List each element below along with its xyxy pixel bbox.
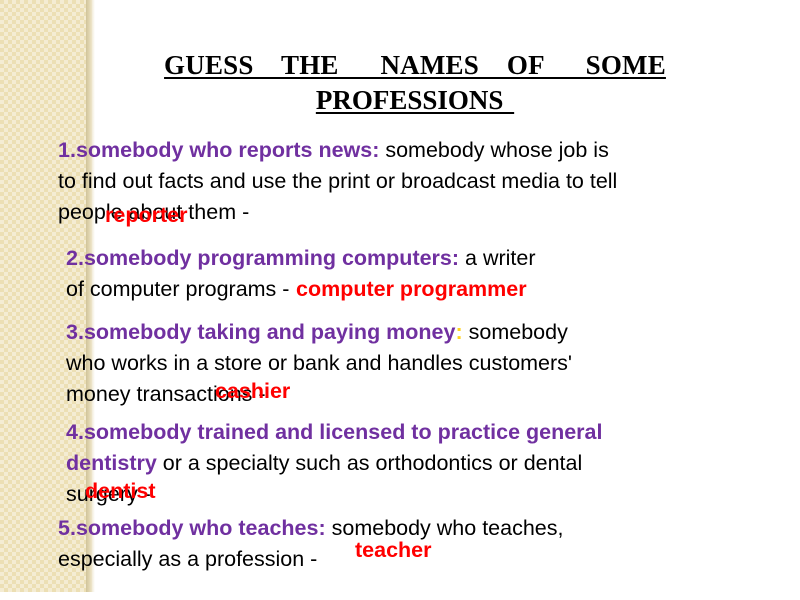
profession-item-5-lead: somebody who teaches: (76, 516, 326, 540)
profession-item-4-lead: somebody trained and licensed to practic… (84, 420, 603, 444)
profession-item-3-line-2: who works in a store or bank and handles… (66, 348, 572, 379)
profession-item-2-line-1: 2.somebody programming computers: a writ… (66, 243, 536, 274)
profession-item-1-number: 1. (58, 138, 76, 162)
profession-item-1-definition-a: somebody whose job is (379, 138, 608, 162)
profession-answer-3: cashier (215, 379, 290, 404)
profession-item-5-line-2: especially as a profession - (58, 544, 563, 575)
profession-item-4-definition-a: or a specialty such as orthodontics or d… (157, 451, 582, 475)
profession-item-3: 3.somebody taking and paying money: some… (66, 317, 572, 410)
profession-item-1-lead: somebody who reports news: (76, 138, 379, 162)
slide-title: GUESS THE NAMES OF SOME PROFESSIONS (155, 48, 675, 118)
profession-item-3-number: 3. (66, 320, 84, 344)
profession-item-4-number: 4. (66, 420, 84, 444)
profession-item-3-definition-a: somebody (463, 320, 568, 344)
slide-title-line-2: PROFESSIONS (316, 83, 514, 118)
profession-item-3-line-3: money transactions - (66, 379, 572, 410)
profession-item-5-definition-a: somebody who teaches, (326, 516, 564, 540)
profession-item-4-lead-cont: dentistry (66, 451, 157, 475)
profession-answer-2: computer programmer (296, 277, 527, 302)
profession-item-2-definition-a: a writer (459, 246, 535, 270)
slide-title-line-1: GUESS THE NAMES OF SOME (164, 48, 666, 83)
profession-item-4-line-1: 4.somebody trained and licensed to pract… (66, 417, 602, 448)
profession-item-5-line-1: 5.somebody who teaches: somebody who tea… (58, 513, 563, 544)
profession-answer-5: teacher (355, 538, 432, 563)
profession-item-3-line-1: 3.somebody taking and paying money: some… (66, 317, 572, 348)
profession-item-5-number: 5. (58, 516, 76, 540)
profession-item-1-line-1: 1.somebody who reports news: somebody wh… (58, 135, 617, 166)
profession-item-4-line-2: dentistry or a specialty such as orthodo… (66, 448, 602, 479)
profession-item-3-lead: somebody taking and paying money (84, 320, 456, 344)
profession-item-3-colon: : (455, 320, 462, 344)
profession-answer-4: dentist (85, 479, 155, 504)
profession-answer-1: reporter (105, 203, 187, 228)
profession-item-2-number: 2. (66, 246, 84, 270)
profession-item-5: 5.somebody who teaches: somebody who tea… (58, 513, 563, 575)
profession-item-1-line-2: to find out facts and use the print or b… (58, 166, 617, 197)
profession-item-2-lead: somebody programming computers: (84, 246, 459, 270)
